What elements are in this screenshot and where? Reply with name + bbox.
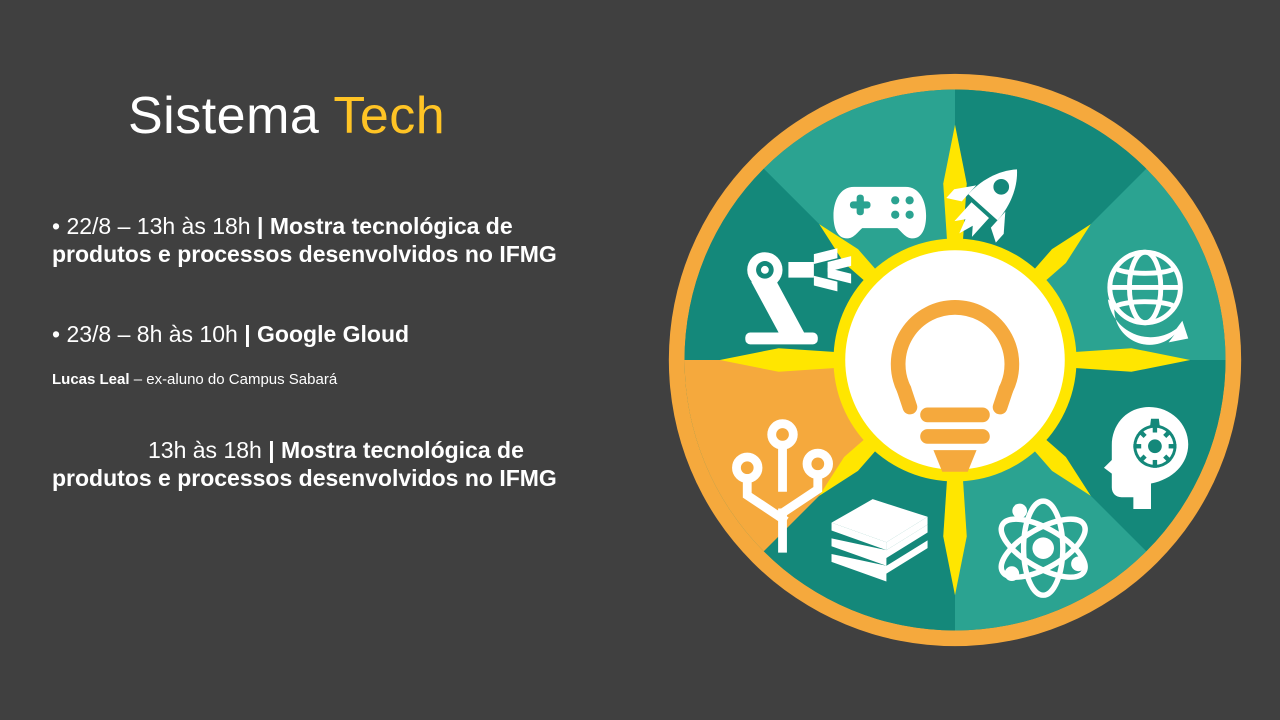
bullet-item-1: • 22/8 – 13h às 18h | Mostra tecnológica… <box>52 212 572 268</box>
body-text-column: • 22/8 – 13h às 18h | Mostra tecnológica… <box>52 212 572 500</box>
bullet-2-lead: • 23/8 – 8h às 10h <box>52 321 244 347</box>
bullet-item-2: • 23/8 – 8h às 10h | Google Gloud <box>52 320 572 348</box>
speaker-role: – ex-aluno do Campus Sabará <box>130 371 338 388</box>
title-part-primary: Sistema <box>128 87 333 145</box>
slide-canvas: Sistema Tech • 22/8 – 13h às 18h | Mostr… <box>0 0 1280 720</box>
spacer-after-bullet-1 <box>52 268 572 320</box>
speaker-line: Lucas Leal – ex-aluno do Campus Sabará <box>52 370 572 390</box>
bullet-1-lead: • 22/8 – 13h às 18h <box>52 213 257 239</box>
spacer-after-speaker <box>52 390 572 436</box>
speaker-name: Lucas Leal <box>52 371 130 388</box>
bullet-2-strong: | Google Gloud <box>244 321 409 347</box>
technology-innovation-wheel <box>661 66 1249 654</box>
title-part-accent: Tech <box>333 87 445 145</box>
bullet-item-3: 13h às 18h | Mostra tecnológica de produ… <box>52 436 572 492</box>
spacer-before-speaker <box>52 356 572 370</box>
page-title: Sistema Tech <box>128 86 445 146</box>
bullet-3-lead: 13h às 18h <box>52 437 268 463</box>
